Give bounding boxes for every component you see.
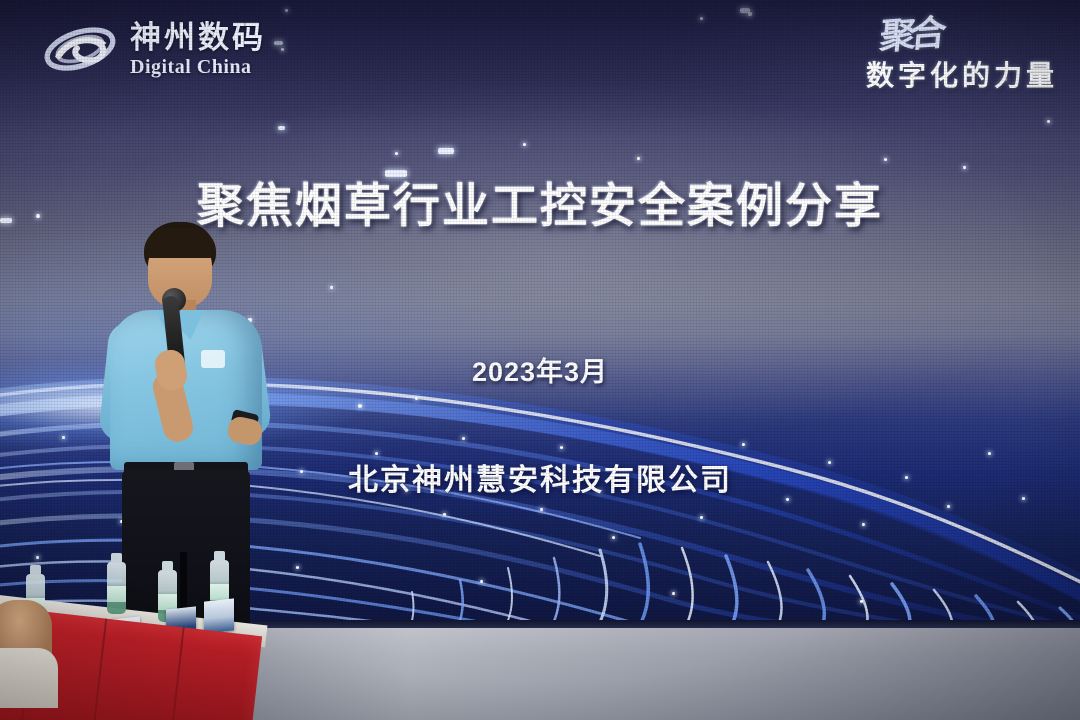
bottle-label [210,584,229,600]
particle-dot [637,157,640,160]
particle-dash [438,148,454,154]
event-tagline: 数字化的力量 [866,54,1058,94]
digital-china-logo: 神州数码 Digital China [42,18,266,80]
digital-china-name-cn: 神州数码 [130,22,266,53]
bottle-cap [30,565,41,575]
bottle-cap [111,553,122,563]
bottle-label [107,586,126,602]
particle-dot [395,152,398,155]
particle-dot [285,9,288,12]
particle-dash [274,41,283,45]
bottle-cap [162,561,173,571]
seated-attendee-body [0,648,58,708]
particle-dash [385,170,407,177]
digital-china-name-en: Digital China [130,57,266,77]
name-card [204,598,234,633]
particle-dot [1047,120,1050,123]
particle-dash [278,126,285,130]
digital-china-swirl-icon [42,18,118,80]
event-calligraphy: 聚合 [878,16,942,54]
water-bottle [107,562,126,614]
particle-dot [963,166,966,169]
particle-dot [700,17,703,20]
conference-photo: 聚焦烟草行业工控安全案例分享 2023年3月 北京神州慧安科技有限公司 神州数码… [0,0,1080,720]
presenter-hair-front [144,228,216,258]
particle-dot [330,286,333,289]
particle-dot [523,143,526,146]
bottle-label [158,594,177,610]
bottle-cap [214,551,225,561]
particle-dot [884,158,887,161]
drape-fold [168,627,185,720]
particle-dot [748,12,752,16]
drape-fold [90,618,107,720]
particle-dash [740,8,750,13]
presenter-chest-badge [201,350,225,368]
event-logo: 聚合 数字化的力量 [866,18,1058,94]
particle-dot [281,48,284,51]
